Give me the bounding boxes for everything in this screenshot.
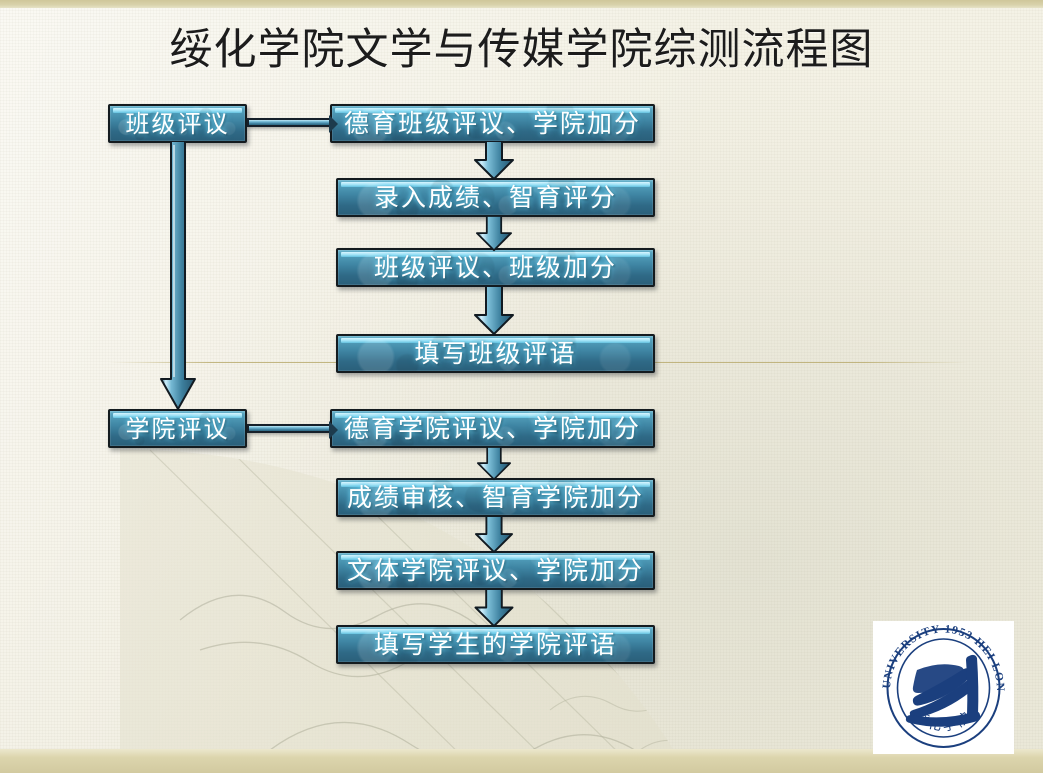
step-box-4[interactable]: 填写班级评语 <box>336 334 655 373</box>
step-box-7[interactable]: 文体学院评议、学院加分 <box>336 551 655 590</box>
step-box-2[interactable]: 录入成绩、智育评分 <box>336 178 655 217</box>
logo-plate: SUI HUA UNIVERSITY 1953 HEI LONG JIANG 绥… <box>873 621 1014 754</box>
step-box-1[interactable]: 德育班级评议、学院加分 <box>330 104 655 143</box>
down-arrow-icon-5 <box>472 516 516 554</box>
stage-box-college-review-label: 学院评议 <box>126 417 230 441</box>
arrow-head-icon <box>329 421 338 439</box>
slide-canvas: 绥化学院文学与传媒学院综测流程图 班级评议 学院评议 德育班级评议、学院加分 录… <box>0 0 1043 773</box>
step-box-6[interactable]: 成绩审核、智育学院加分 <box>336 478 655 517</box>
arrow-head-icon <box>329 115 338 133</box>
step-box-2-label: 录入成绩、智育评分 <box>374 185 617 210</box>
step-box-5[interactable]: 德育学院评议、学院加分 <box>330 409 655 448</box>
connector-college-to-step5 <box>247 424 331 433</box>
down-arrow-icon-3 <box>472 286 516 336</box>
stage-box-college-review[interactable]: 学院评议 <box>108 409 247 448</box>
stage-box-class-review[interactable]: 班级评议 <box>108 104 247 143</box>
step-box-8[interactable]: 填写学生的学院评语 <box>336 625 655 664</box>
connector-class-to-step1 <box>247 118 331 127</box>
step-box-8-label: 填写学生的学院评语 <box>374 632 617 657</box>
stage-box-class-review-label: 班级评议 <box>126 112 230 136</box>
step-box-7-label: 文体学院评议、学院加分 <box>347 558 644 583</box>
down-arrow-icon-6 <box>472 589 516 628</box>
step-box-3[interactable]: 班级评议、班级加分 <box>336 248 655 287</box>
top-accent-band <box>0 0 1043 8</box>
step-box-5-label: 德育学院评议、学院加分 <box>344 416 641 441</box>
page-title: 绥化学院文学与传媒学院综测流程图 <box>0 26 1043 75</box>
step-box-3-label: 班级评议、班级加分 <box>374 255 617 280</box>
down-arrow-icon-4 <box>472 447 516 481</box>
step-box-1-label: 德育班级评议、学院加分 <box>344 111 641 136</box>
step-box-6-label: 成绩审核、智育学院加分 <box>347 485 644 510</box>
step-box-4-label: 填写班级评语 <box>414 341 576 366</box>
connector-class-to-college-arrow <box>158 141 198 413</box>
down-arrow-icon-2 <box>472 216 516 252</box>
suihua-university-seal-icon: SUI HUA UNIVERSITY 1953 HEI LONG JIANG 绥… <box>873 621 1014 754</box>
down-arrow-icon-1 <box>472 141 516 181</box>
